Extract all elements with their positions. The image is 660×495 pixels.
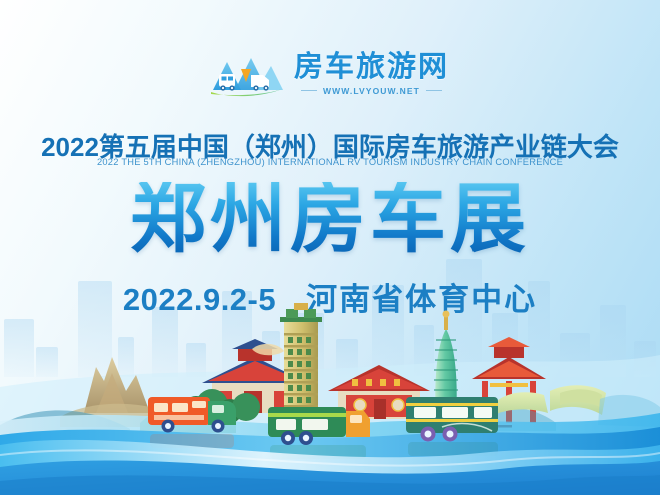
- logo-divider-right: [426, 90, 442, 91]
- logo-divider-left: [301, 90, 317, 91]
- zhengzhou-landmark-illustration: [0, 295, 660, 495]
- site-logo[interactable]: 房车旅游网 WWW.LVYOUW.NET: [0, 50, 660, 98]
- brand-name-cn: 房车旅游网: [294, 52, 449, 82]
- logo-url-row: WWW.LVYOUW.NET: [301, 86, 442, 96]
- conference-title-en: 2022 THE 5TH CHINA (ZHENGZHOU) INTERNATI…: [0, 157, 660, 167]
- poster-canvas: 房车旅游网 WWW.LVYOUW.NET 2022第五届中国（郑州）国际房车旅游…: [0, 0, 660, 495]
- page-title: 郑州房车展: [0, 182, 660, 258]
- brand-website-url: WWW.LVYOUW.NET: [323, 86, 420, 96]
- rv-mountain-logo-icon: [211, 50, 285, 98]
- logo-text-block: 房车旅游网 WWW.LVYOUW.NET: [294, 52, 449, 95]
